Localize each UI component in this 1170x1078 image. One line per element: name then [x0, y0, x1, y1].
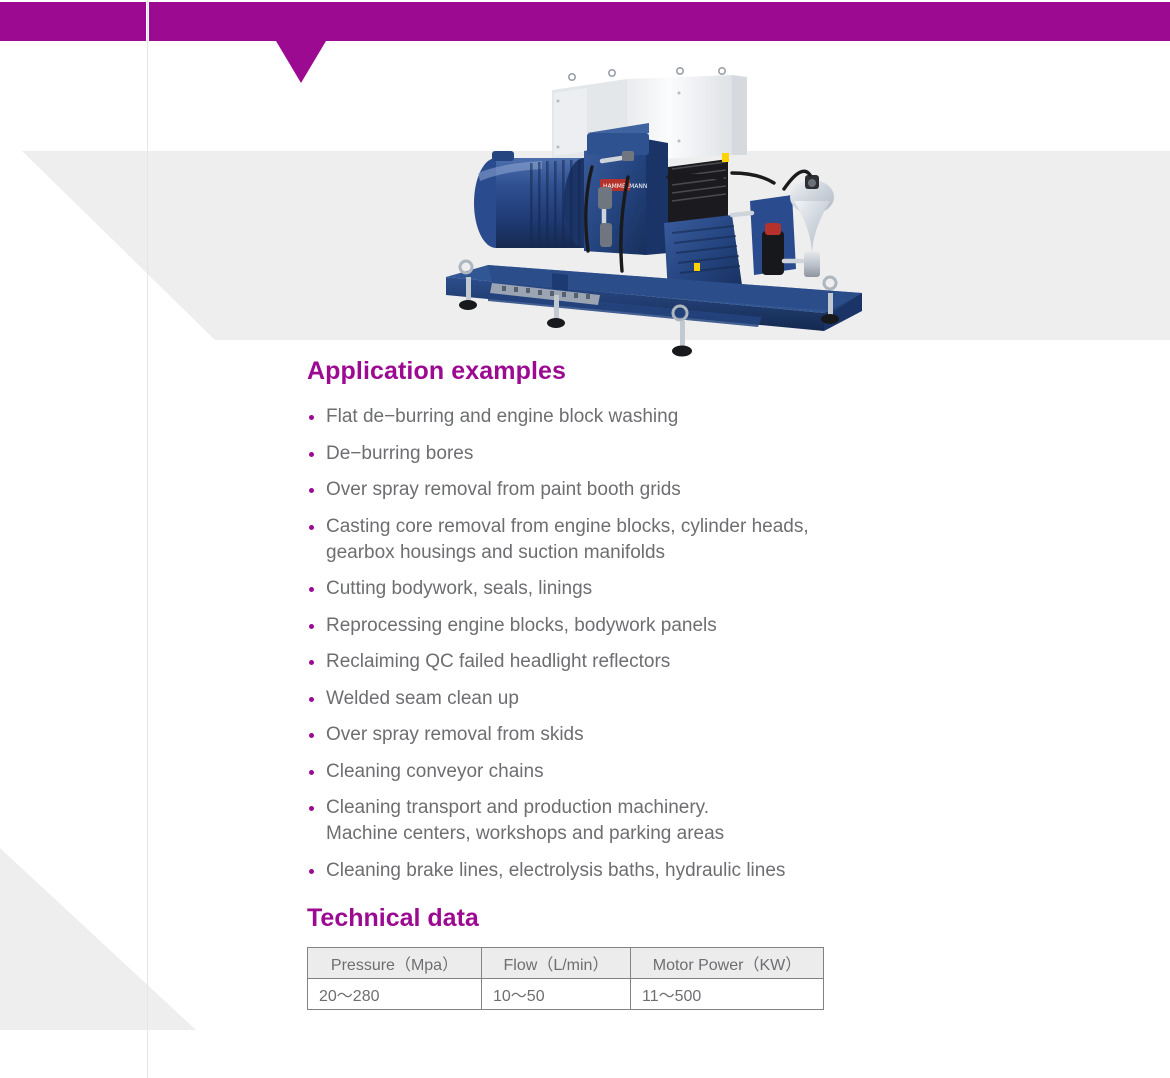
- technical-data-table: Pressure（Mpa） Flow（L/min） Motor Power（KW…: [307, 947, 824, 1010]
- list-item: Cleaning transport and production machin…: [307, 795, 947, 847]
- list-item-text-continued: Machine centers, workshops and parking a…: [326, 821, 947, 847]
- top-bar-right-segment: [149, 2, 1170, 41]
- list-item: Casting core removal from engine blocks,…: [307, 514, 947, 566]
- list-item: Reclaiming QC failed headlight reflector…: [307, 649, 947, 675]
- list-item: Over spray removal from paint booth grid…: [307, 477, 947, 503]
- page-root: HAMMELMANN: [0, 0, 1170, 1078]
- list-item: De−burring bores: [307, 441, 947, 467]
- vertical-divider-rule: [147, 0, 148, 1078]
- product-photo: HAMMELMANN: [432, 55, 872, 363]
- down-triangle-notch-icon: [276, 41, 326, 83]
- list-item-text: Welded seam clean up: [326, 688, 519, 709]
- top-bar-left-segment: [0, 2, 146, 41]
- list-item: Cutting bodywork, seals, linings: [307, 576, 947, 602]
- content-column: Application examples Flat de−burring and…: [307, 355, 947, 1010]
- list-item-text: Over spray removal from skids: [326, 724, 584, 745]
- list-item: Cleaning conveyor chains: [307, 759, 947, 785]
- list-item-text: Flat de−burring and engine block washing: [326, 406, 678, 427]
- list-item-text: Casting core removal from engine blocks,…: [326, 516, 809, 537]
- list-item-text: Cleaning brake lines, electrolysis baths…: [326, 860, 785, 881]
- application-examples-list: Flat de−burring and engine block washing…: [307, 404, 947, 884]
- list-item-text: Over spray removal from paint booth grid…: [326, 479, 681, 500]
- list-item-text: Reprocessing engine blocks, bodywork pan…: [326, 615, 717, 636]
- list-item-text: Cleaning transport and production machin…: [326, 797, 709, 818]
- grey-corner-triangle: [0, 848, 196, 1030]
- column-header-motor-power: Motor Power（KW）: [631, 947, 824, 978]
- list-item: Flat de−burring and engine block washing: [307, 404, 947, 430]
- technical-data-title: Technical data: [307, 902, 947, 934]
- list-item-text: Cleaning conveyor chains: [326, 761, 544, 782]
- column-header-flow: Flow（L/min）: [482, 947, 631, 978]
- list-item: Reprocessing engine blocks, bodywork pan…: [307, 613, 947, 639]
- list-item-text-continued: gearbox housings and suction manifolds: [326, 540, 947, 566]
- cell-motor-power-value: 11～500: [631, 978, 824, 1009]
- list-item: Over spray removal from skids: [307, 722, 947, 748]
- list-item: Cleaning brake lines, electrolysis baths…: [307, 858, 947, 884]
- cell-flow-value: 10～50: [482, 978, 631, 1009]
- page-title: Application examples: [307, 355, 947, 387]
- table-header-row: Pressure（Mpa） Flow（L/min） Motor Power（KW…: [308, 947, 824, 978]
- list-item-text: Cutting bodywork, seals, linings: [326, 578, 592, 599]
- column-header-pressure: Pressure（Mpa）: [308, 947, 482, 978]
- list-item-text: De−burring bores: [326, 443, 473, 464]
- list-item: Welded seam clean up: [307, 686, 947, 712]
- top-purple-bar: [0, 2, 1170, 41]
- cell-pressure-value: 20～280: [308, 978, 482, 1009]
- table-row: 20～280 10～50 11～500: [308, 978, 824, 1009]
- list-item-text: Reclaiming QC failed headlight reflector…: [326, 651, 670, 672]
